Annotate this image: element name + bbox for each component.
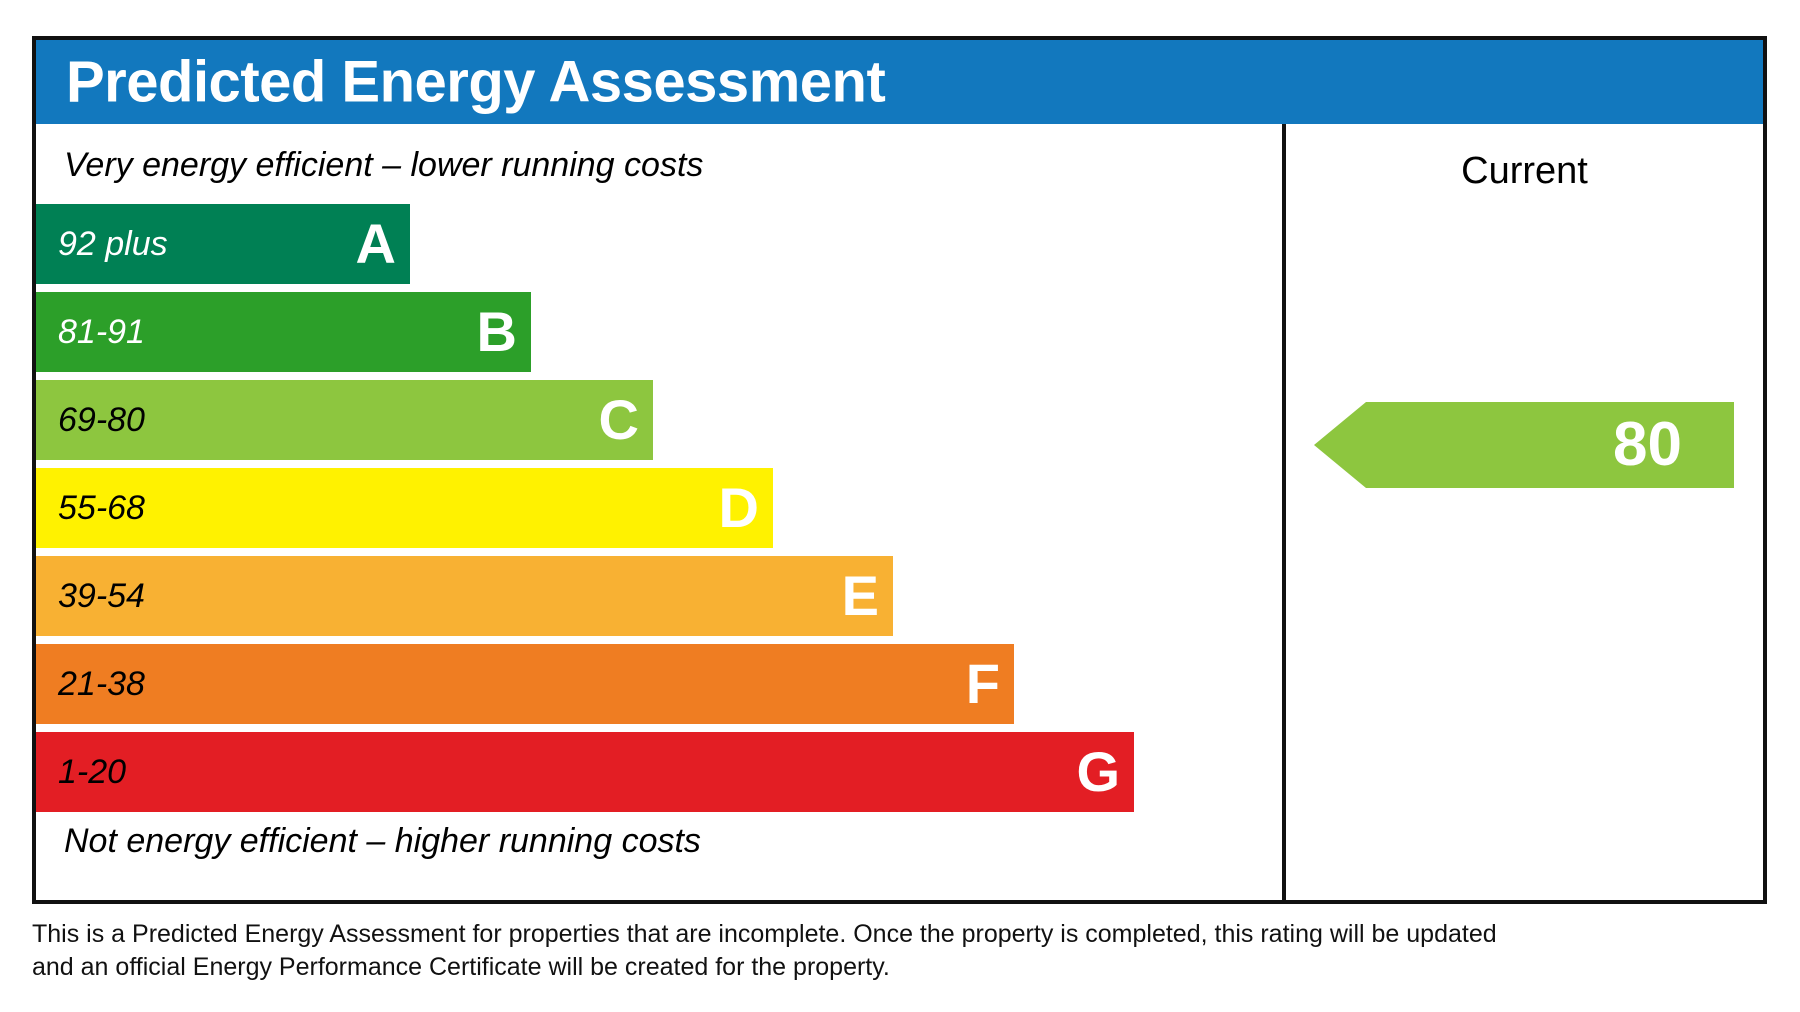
band-row-f: 21-38F <box>36 644 1014 724</box>
band-letter-label: C <box>599 392 639 448</box>
band-row-g: 1-20G <box>36 732 1134 812</box>
band-row-b: 81-91B <box>36 292 531 372</box>
band-letter-label: E <box>842 568 879 624</box>
chart-frame: Predicted Energy Assessment Very energy … <box>32 36 1767 904</box>
band-range-label: 81-91 <box>58 313 145 352</box>
current-column-header: Current <box>1286 150 1763 193</box>
energy-certificate-page: Predicted Energy Assessment Very energy … <box>0 0 1800 1012</box>
band-row-a: 92 plusA <box>36 204 410 284</box>
title-bar: Predicted Energy Assessment <box>36 40 1763 124</box>
caption-very-efficient: Very energy efficient – lower running co… <box>64 146 703 185</box>
efficiency-scale-column: Very energy efficient – lower running co… <box>36 124 1282 900</box>
footer-disclaimer: This is a Predicted Energy Assessment fo… <box>32 918 1532 984</box>
band-letter-label: G <box>1076 744 1120 800</box>
band-letter-label: D <box>719 480 759 536</box>
chart-body: Very energy efficient – lower running co… <box>36 124 1763 900</box>
band-letter-label: F <box>966 656 1000 712</box>
band-range-label: 92 plus <box>58 225 168 264</box>
band-range-label: 69-80 <box>58 401 145 440</box>
band-row-d: 55-68D <box>36 468 773 548</box>
band-range-label: 39-54 <box>58 577 145 616</box>
current-rating-value: 80 <box>1613 414 1682 476</box>
band-letter-label: B <box>477 304 517 360</box>
band-range-label: 21-38 <box>58 665 145 704</box>
band-range-label: 1-20 <box>58 753 126 792</box>
band-row-c: 69-80C <box>36 380 653 460</box>
band-row-e: 39-54E <box>36 556 893 636</box>
current-rating-arrow: 80 <box>1314 402 1734 488</box>
page-title: Predicted Energy Assessment <box>66 49 885 116</box>
band-list: 92 plusA81-91B69-80C55-68D39-54E21-38F1-… <box>36 204 1282 820</box>
band-letter-label: A <box>356 216 396 272</box>
caption-not-efficient: Not energy efficient – higher running co… <box>64 822 701 861</box>
band-range-label: 55-68 <box>58 489 145 528</box>
current-rating-column: Current 80 <box>1286 124 1763 900</box>
